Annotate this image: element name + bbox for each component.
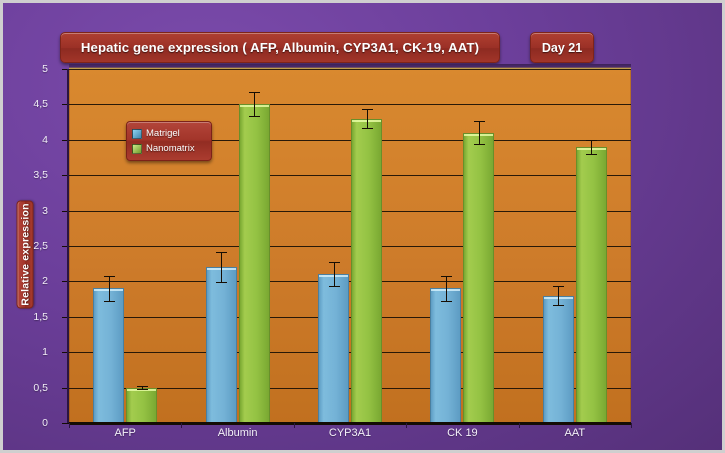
y-tick-label: 2: [8, 275, 48, 287]
x-tick-mark: [406, 423, 407, 428]
error-bar-cap: [249, 116, 260, 117]
error-bar-cap: [474, 144, 485, 145]
y-tick-label: 4,5: [8, 98, 48, 110]
x-tick-label: AFP: [114, 427, 135, 439]
x-axis-line: [69, 422, 631, 425]
gridline: [69, 281, 631, 282]
error-bar-cap: [441, 276, 452, 277]
error-bar: [221, 252, 222, 282]
error-bar-cap: [474, 121, 485, 122]
error-bar-cap: [216, 282, 227, 283]
x-tick-label: AAT: [565, 427, 586, 439]
legend-item-nanomatrix: Nanomatrix: [132, 141, 206, 156]
error-bar: [367, 109, 368, 129]
error-bar-cap: [362, 128, 373, 129]
error-bar-cap: [586, 154, 597, 155]
bar-ck-19-nanomatrix: [463, 133, 494, 423]
error-bar-cap: [329, 286, 340, 287]
error-bar-cap: [362, 109, 373, 110]
legend-swatch-icon: [132, 144, 142, 154]
bar-ck-19-matrigel: [430, 288, 461, 423]
error-bar-cap: [104, 276, 115, 277]
x-tick-mark: [181, 423, 182, 428]
y-tick-label: 3,5: [8, 169, 48, 181]
x-tick-label: CYP3A1: [329, 427, 371, 439]
error-bar-cap: [441, 301, 452, 302]
error-bar: [591, 140, 592, 154]
error-bar: [254, 92, 255, 116]
error-bar-cap: [329, 262, 340, 263]
error-bar-cap: [553, 305, 564, 306]
y-tick-label: 5: [8, 63, 48, 75]
bar-cyp3a1-matrigel: [318, 274, 349, 423]
y-tick-label: 0: [8, 417, 48, 429]
bar-albumin-nanomatrix: [239, 104, 270, 423]
gridline: [69, 211, 631, 212]
legend-label: Matrigel: [146, 128, 180, 139]
bar-afp-matrigel: [93, 288, 124, 423]
error-bar-cap: [249, 92, 260, 93]
error-bar: [109, 276, 110, 301]
y-tick-label: 0,5: [8, 382, 48, 394]
bar-aat-matrigel: [543, 296, 574, 423]
y-tick-label: 2,5: [8, 240, 48, 252]
x-tick-mark: [294, 423, 295, 428]
gridline: [69, 246, 631, 247]
legend-item-matrigel: Matrigel: [132, 126, 206, 141]
gridline: [69, 175, 631, 176]
error-bar: [479, 121, 480, 144]
x-tick-mark: [69, 423, 70, 428]
error-bar: [558, 286, 559, 306]
y-tick-mark: [62, 423, 69, 424]
y-tick-label: 4: [8, 134, 48, 146]
bar-cyp3a1-nanomatrix: [351, 119, 382, 423]
error-bar: [446, 276, 447, 300]
x-tick-label: CK 19: [447, 427, 478, 439]
error-bar-cap: [137, 389, 148, 390]
error-bar-cap: [216, 252, 227, 253]
chart-slide: Hepatic gene expression ( AFP, Albumin, …: [0, 0, 725, 453]
bar-albumin-matrigel: [206, 267, 237, 423]
error-bar-cap: [137, 386, 148, 387]
y-tick-label: 1: [8, 346, 48, 358]
x-tick-mark: [631, 423, 632, 428]
error-bar-cap: [553, 286, 564, 287]
y-tick-label: 3: [8, 205, 48, 217]
bar-aat-nanomatrix: [576, 147, 607, 423]
legend-swatch-icon: [132, 129, 142, 139]
gridline: [69, 104, 631, 105]
x-tick-mark: [519, 423, 520, 428]
legend-label: Nanomatrix: [146, 143, 195, 154]
gridline: [69, 69, 631, 70]
x-tick-label: Albumin: [218, 427, 258, 439]
error-bar: [334, 262, 335, 286]
bar-afp-nanomatrix: [126, 388, 157, 423]
error-bar-cap: [586, 140, 597, 141]
chart-legend[interactable]: Matrigel Nanomatrix: [126, 121, 212, 161]
error-bar-cap: [104, 301, 115, 302]
y-tick-label: 1,5: [8, 311, 48, 323]
